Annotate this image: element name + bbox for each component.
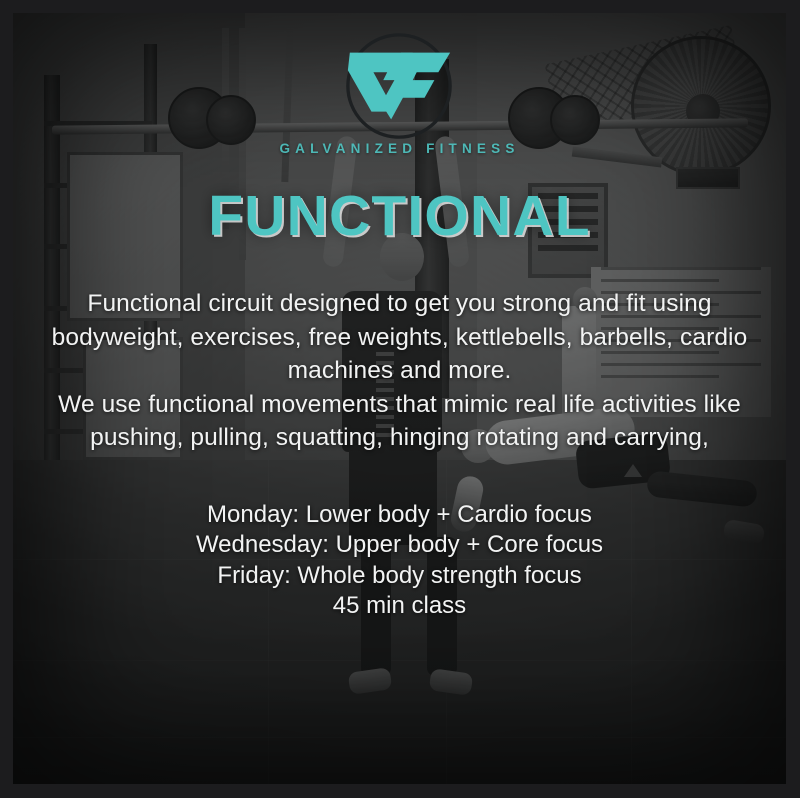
schedule-line-duration: 45 min class	[196, 591, 603, 622]
gf-monogram-icon	[340, 27, 458, 145]
brand-logo: GALVANIZED FITNESS	[279, 27, 519, 156]
schedule-line-wednesday: Wednesday: Upper body + Core focus	[196, 530, 603, 561]
schedule-line-monday: Monday: Lower body + Cardio focus	[196, 500, 603, 531]
description-paragraph-2: We use functional movements that mimic r…	[44, 388, 756, 455]
poster-content: GALVANIZED FITNESS FUNCTIONAL Functional…	[13, 13, 786, 784]
class-schedule: Monday: Lower body + Cardio focus Wednes…	[196, 500, 603, 622]
class-info-poster: GALVANIZED FITNESS FUNCTIONAL Functional…	[0, 0, 800, 798]
class-description: Functional circuit designed to get you s…	[44, 287, 756, 455]
description-paragraph-1: Functional circuit designed to get you s…	[44, 287, 756, 388]
page-title: FUNCTIONAL	[208, 188, 590, 245]
brand-wordmark: GALVANIZED FITNESS	[279, 141, 519, 156]
schedule-line-friday: Friday: Whole body strength focus	[196, 561, 603, 592]
